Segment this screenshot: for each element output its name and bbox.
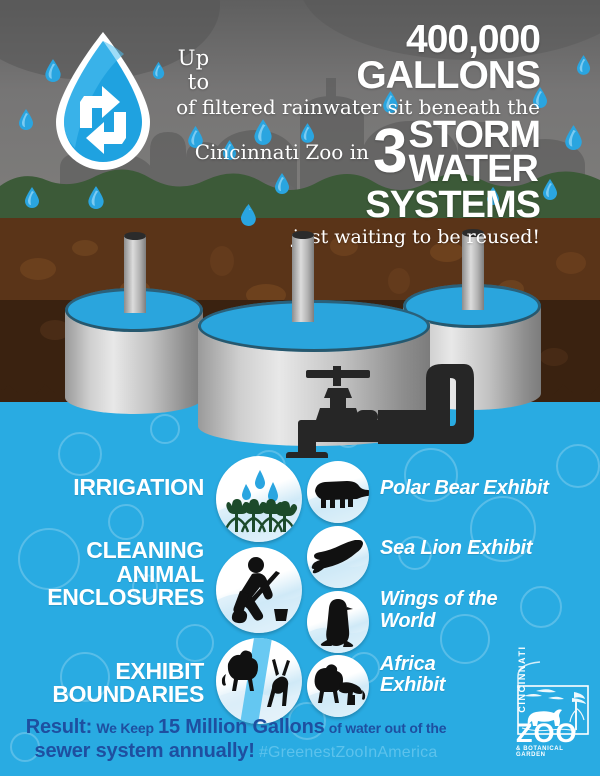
footer-tail2: sewer system annually! [35, 740, 255, 762]
use-label-cleaning-l1: CLEANING [26, 539, 204, 562]
irrigation-icon [216, 456, 302, 542]
rain-drop-icon [564, 124, 583, 150]
penguin-icon [307, 591, 369, 653]
exhibit-label-polar-bear: Polar Bear Exhibit [380, 478, 585, 499]
tank-vent-cap-center [292, 231, 314, 239]
tank-vent-center [292, 234, 314, 322]
headline-prefix: Up to [150, 46, 209, 94]
rain-drop-icon [542, 178, 558, 200]
exhibit-boundaries-icon [216, 638, 302, 724]
use-label-cleaning: CLEANING ANIMAL ENCLOSURES [26, 539, 204, 609]
footer-hashtag: #GreenestZooInAmerica [259, 744, 438, 761]
header-headline: Up to 400,000 GALLONS of filtered rainwa… [150, 22, 540, 248]
use-label-irrigation: IRRIGATION [26, 476, 204, 499]
exhibit-label-wings-l1: Wings of the [380, 589, 585, 610]
tank-vent-left [124, 235, 146, 313]
headline-count: 3 [373, 128, 404, 176]
headline-word-systems: SYSTEMS [150, 187, 540, 223]
exhibit-label-wings-of-the-world: Wings of the World [380, 589, 585, 631]
infographic-poster: Up to 400,000 GALLONS of filtered rainwa… [0, 0, 600, 776]
rain-drop-icon [576, 54, 591, 75]
zoo-logo-subtitle: & BOTANICAL GARDEN [516, 746, 592, 758]
cleaning-icon [216, 547, 302, 633]
rain-drop-icon [87, 185, 105, 209]
headline-gallons: 400,000 GALLONS [217, 22, 540, 94]
use-label-exhibit-l1: EXHIBIT [26, 660, 204, 683]
exhibit-label-sea-lion: Sea Lion Exhibit [380, 538, 585, 559]
headline-word-water: WATER [408, 152, 540, 186]
faucet-valve-pipes [228, 348, 478, 458]
rain-drop-icon [18, 108, 34, 130]
headline-word-storm: STORM [408, 118, 540, 152]
exhibit-label-wings-l2: World [380, 611, 585, 632]
footer-result: Result: We Keep 15 Million Gallons of wa… [0, 716, 472, 763]
footer-we-keep: We Keep [96, 720, 153, 736]
water-uses-labels: IRRIGATION CLEANING ANIMAL ENCLOSURES EX… [26, 452, 204, 707]
tank-vent-cap-left [124, 232, 146, 240]
use-label-cleaning-l2: ANIMAL [26, 563, 204, 586]
footer-amount: 15 Million Gallons [158, 716, 324, 738]
cincinnati-zoo-logo[interactable]: CINCINNATI ZOO & BOTANICAL GARDEN [492, 660, 592, 764]
use-label-exhibit-boundaries: EXHIBIT BOUNDARIES [26, 660, 204, 707]
rain-drop-icon [44, 58, 62, 82]
headline-line4: just waiting to be reused! [150, 226, 540, 248]
footer-tail1: of water out of the [329, 720, 447, 736]
rain-drop-icon [24, 186, 40, 208]
zoo-logo-city: CINCINNATI [517, 643, 527, 715]
lion-icon [307, 655, 369, 717]
zoo-logo-zoo: ZOO [516, 718, 578, 749]
sea-lion-icon [307, 526, 369, 588]
polar-bear-icon [307, 461, 369, 523]
use-label-exhibit-l2: BOUNDARIES [26, 683, 204, 706]
headline-line3-prefix: Cincinnati Zoo in [195, 141, 369, 163]
water-recycle-droplet-logo [42, 28, 164, 178]
use-label-cleaning-l3: ENCLOSURES [26, 586, 204, 609]
footer-result-label: Result: [26, 716, 92, 738]
